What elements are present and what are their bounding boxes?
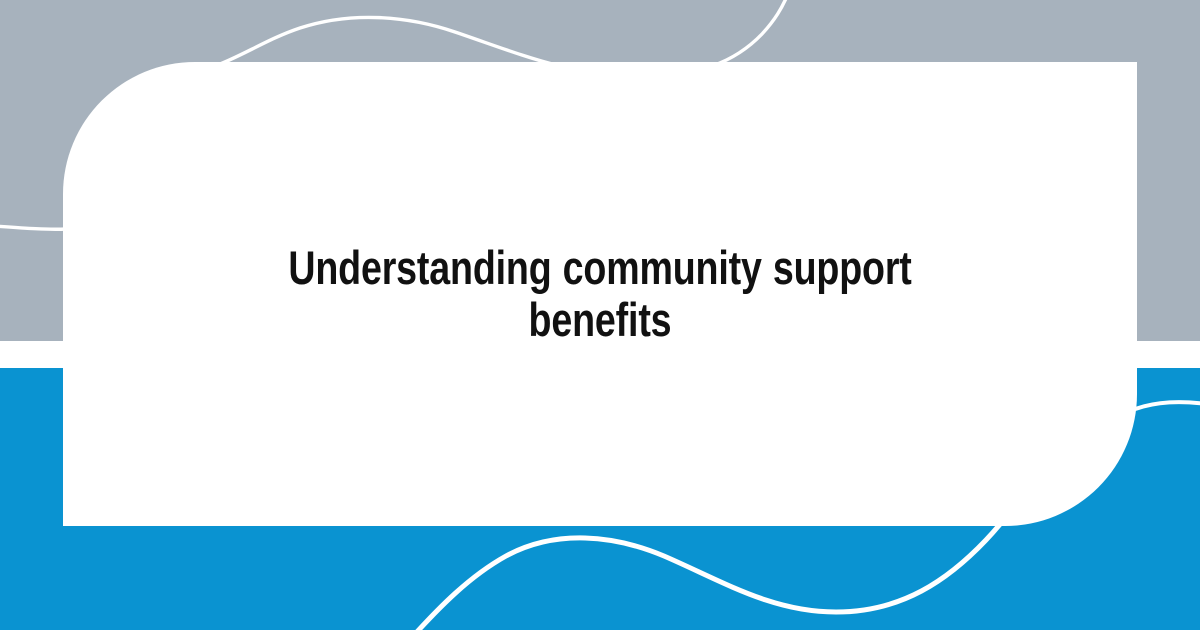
hero-canvas: Understanding community support benefits <box>0 0 1200 630</box>
card-inner: Understanding community support benefits <box>170 242 1030 346</box>
content-card: Understanding community support benefits <box>63 62 1137 526</box>
page-title: Understanding community support benefits <box>256 242 944 346</box>
